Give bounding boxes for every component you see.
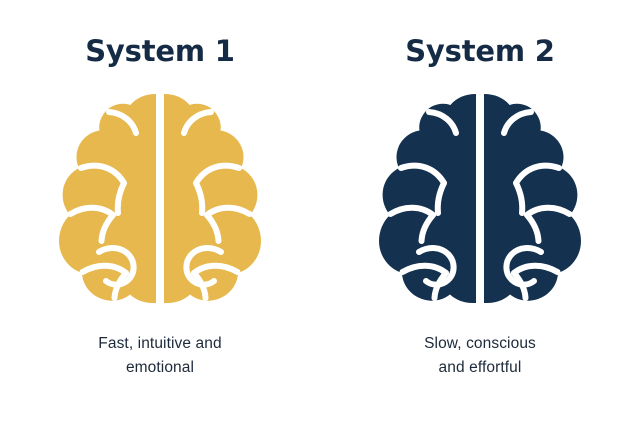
- brain-right-hemisphere: [164, 94, 261, 303]
- system-2-title: System 2: [405, 36, 554, 66]
- brain-left-hemisphere: [379, 94, 476, 303]
- system-2-caption-line-1: Slow, conscious: [424, 335, 536, 352]
- system-2-caption: Slow, conscious and effortful: [355, 332, 605, 379]
- brain-central-fissure: [476, 92, 484, 306]
- dual-process-infographic: System 1: [0, 0, 640, 433]
- system-2-brain-figure: [377, 92, 583, 306]
- system-1-caption-line-1: Fast, intuitive and: [98, 335, 221, 352]
- system-1-caption-line-2: emotional: [126, 359, 194, 376]
- system-2-panel: System 2: [320, 0, 640, 433]
- system-2-caption-line-2: and effortful: [439, 359, 522, 376]
- brain-central-fissure: [156, 92, 164, 306]
- brain-left-hemisphere: [59, 94, 156, 303]
- system-1-brain-figure: [57, 92, 263, 306]
- brain-right-hemisphere: [484, 94, 581, 303]
- brain-icon: [377, 92, 583, 306]
- brain-icon: [57, 92, 263, 306]
- system-1-title: System 1: [85, 36, 234, 66]
- system-1-caption: Fast, intuitive and emotional: [35, 332, 285, 379]
- system-1-panel: System 1: [0, 0, 320, 433]
